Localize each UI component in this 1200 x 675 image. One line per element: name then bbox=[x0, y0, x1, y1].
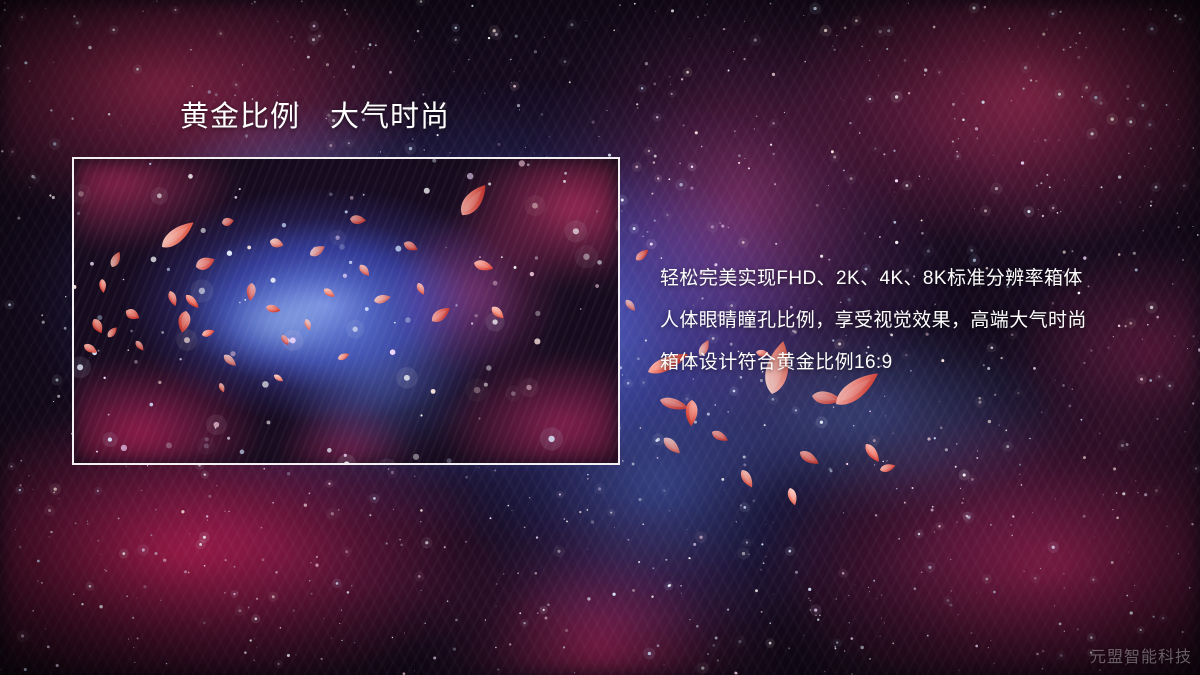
feature-description-block: 轻松完美实现FHD、2K、4K、8K标准分辨率箱体 人体眼睛瞳孔比例，享受视觉效… bbox=[660, 258, 1180, 384]
photo-wisp-texture bbox=[74, 159, 618, 463]
feature-line-3: 箱体设计符合黄金比例16:9 bbox=[660, 342, 1180, 384]
feature-line-2: 人体眼睛瞳孔比例，享受视觉效果，高端大气时尚 bbox=[660, 300, 1180, 342]
watermark-label: 元盟智能科技 bbox=[1090, 643, 1192, 667]
framed-photo-panel bbox=[72, 157, 620, 465]
slide-canvas: 黄金比例 大气时尚 轻松完美实现FHD、2K、4K、8K标准分辨率箱体 人体眼睛… bbox=[0, 0, 1200, 675]
feature-line-1: 轻松完美实现FHD、2K、4K、8K标准分辨率箱体 bbox=[660, 258, 1180, 300]
page-title: 黄金比例 大气时尚 bbox=[180, 103, 450, 132]
